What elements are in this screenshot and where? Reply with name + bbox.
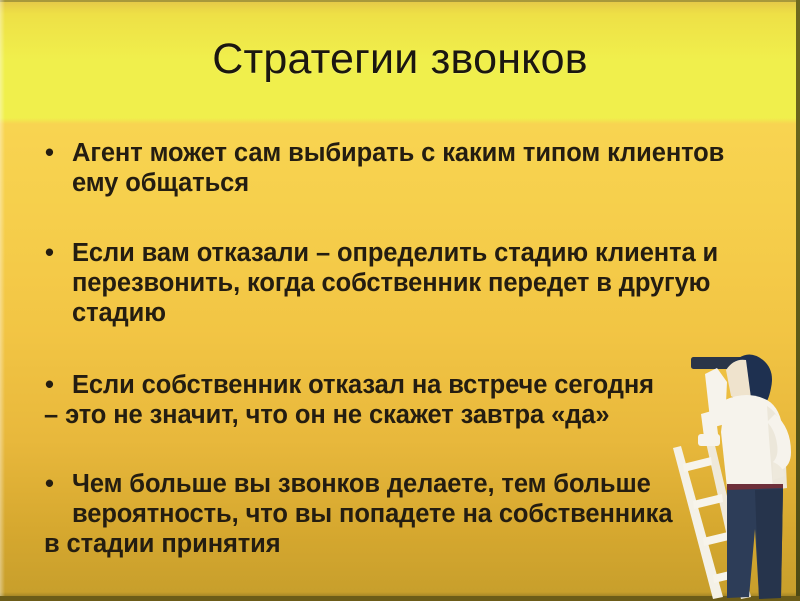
bullet-text-3: • Если собственник отказал на встрече се… [0,370,800,400]
bullet-marker-icon: • [45,370,54,400]
bullet-marker-icon: • [45,238,54,268]
bullet-label-3: Если собственник отказал на встрече сего… [72,371,654,399]
bullet-label-4: Чем больше вы звонков делаете, тем больш… [72,470,672,528]
bullet-label-2: Если вам отказали – определить стадию кл… [72,239,718,327]
bullet-text-2: • Если вам отказали – определить стадию … [0,238,800,328]
bullet-text-4: • Чем больше вы звонков делаете, тем бол… [0,469,800,529]
presentation-slide: Стратегии звонков • Агент может сам выби… [0,0,800,601]
bullet-item-3: • Если собственник отказал на встрече се… [0,370,800,431]
bullet-marker-icon: • [45,138,54,168]
page-title: Стратегии звонков [0,38,800,81]
bullet-marker-icon: • [45,469,54,499]
slide-bottom-edge [0,596,800,601]
title-band: Стратегии звонков [0,0,800,122]
slide-body: • Агент может сам выбирать с каким типом… [0,126,800,560]
bullet-label-1: Агент может сам выбирать с каким типом к… [72,139,724,197]
bullet-continuation-3: – это не значит, что он не скажет завтра… [0,400,800,431]
bullet-item-2: • Если вам отказали – определить стадию … [0,238,800,328]
bullet-text-1: • Агент может сам выбирать с каким типом… [0,138,800,198]
bullet-continuation-4: в стадии принятия [0,529,800,560]
bullet-item-4: • Чем больше вы звонков делаете, тем бол… [0,469,800,560]
bullet-item-1: • Агент может сам выбирать с каким типом… [0,138,800,198]
